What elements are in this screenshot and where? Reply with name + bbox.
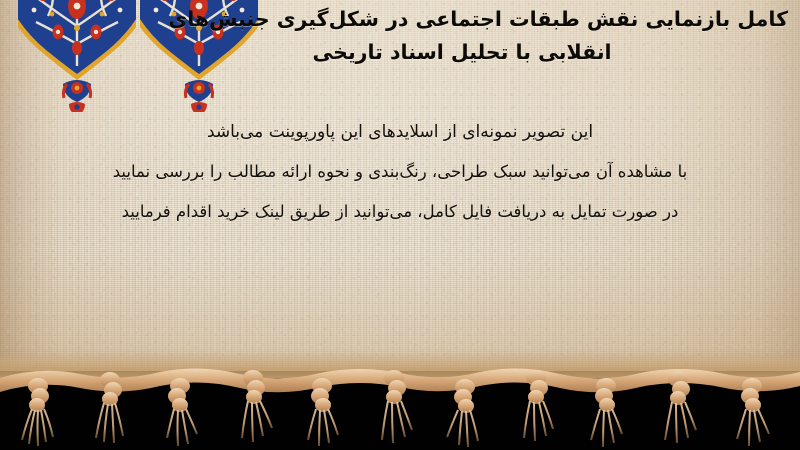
slide-body: این تصویر نمونه‌ای از اسلایدهای این پاور…: [0, 112, 800, 232]
slide-title: کامل بازنمایی نقش طبقات اجتماعی در شکل‌گ…: [188, 3, 788, 69]
slide-title-line-2: انقلابی با تحلیل اسناد تاریخی: [188, 36, 736, 69]
slide-title-line-1: کامل بازنمایی نقش طبقات اجتماعی در شکل‌گ…: [188, 3, 788, 36]
carpet-hem-edge: [0, 352, 800, 378]
slide-body-line-2: با مشاهده آن می‌توانید سبک طراحی، رنگ‌بن…: [0, 152, 800, 192]
slide-body-line-3: در صورت تمایل به دریافت فایل کامل، می‌تو…: [0, 192, 800, 232]
bottom-black-band: [0, 371, 800, 450]
persian-medallion-left-icon: [18, 0, 136, 116]
slide-canvas: کامل بازنمایی نقش طبقات اجتماعی در شکل‌گ…: [0, 0, 800, 450]
slide-body-line-1: این تصویر نمونه‌ای از اسلایدهای این پاور…: [0, 112, 800, 152]
